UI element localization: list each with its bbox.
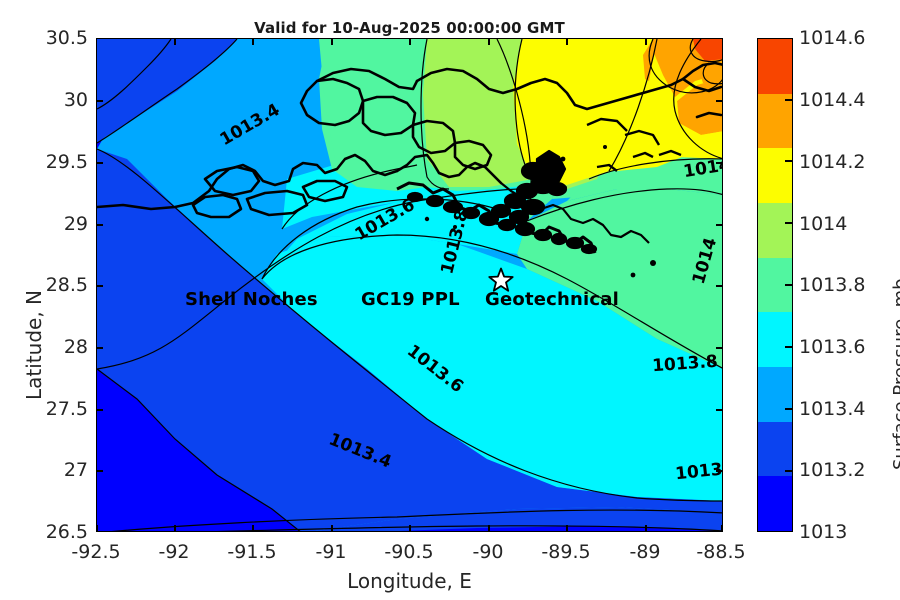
colorbar-tick-label: 1014.2: [799, 151, 865, 173]
y-tick-right: [716, 409, 723, 411]
y-tick-right: [716, 100, 723, 102]
colorbar-tick-label: 1014.4: [799, 89, 865, 111]
x-tick-label: -91: [286, 541, 376, 563]
colorbar-tick-label: 1014: [799, 213, 847, 235]
y-tick: [96, 162, 103, 164]
x-tick-label: -89.5: [521, 541, 611, 563]
site-label-shell-noches: Shell Noches: [185, 289, 318, 310]
colorbar-band-6: [758, 367, 792, 422]
colorbar-tick: [785, 408, 793, 410]
colorbar-tick: [785, 470, 793, 472]
x-tick-top: [252, 38, 254, 45]
x-axis-title: Longitude, E: [96, 569, 723, 593]
colorbar-band-0: [758, 39, 792, 94]
x-tick-top: [331, 38, 333, 45]
x-tick: [488, 525, 490, 532]
y-tick-right: [716, 347, 723, 349]
colorbar-tick: [785, 99, 793, 101]
contour-map-axes[interactable]: 1013.4 1013.6 1013.8 1014.2 1014 1013.6 …: [96, 38, 723, 532]
colorbar-band-5: [758, 312, 792, 367]
x-tick: [645, 525, 647, 532]
x-tick: [96, 525, 98, 532]
colorbar-tick: [785, 222, 793, 224]
colorbar-band-7: [758, 422, 792, 477]
y-tick: [96, 347, 103, 349]
x-tick-top: [174, 38, 176, 45]
x-tick: [409, 525, 411, 532]
y-tick-label: 30.5: [16, 27, 88, 49]
x-tick-label: -92: [129, 541, 219, 563]
colorbar-tick-label: 1013.4: [799, 398, 865, 420]
x-tick: [566, 525, 568, 532]
y-tick-label: 29.5: [16, 151, 88, 173]
y-tick-label: 30: [16, 89, 88, 111]
colorbar-tick-label: 1013: [799, 521, 847, 543]
colorbar-tick-label: 1013.6: [799, 336, 865, 358]
plot-title: Valid for 10-Aug-2025 00:00:00 GMT: [96, 19, 723, 37]
colorbar-tick: [785, 160, 793, 162]
site-label-gc19-ppl: GC19 PPL: [361, 289, 460, 310]
y-tick-label: 26.5: [16, 521, 88, 543]
x-tick-label: -90: [443, 541, 533, 563]
x-tick: [252, 525, 254, 532]
x-tick: [721, 525, 723, 532]
y-tick: [96, 224, 103, 226]
colorbar-tick: [785, 284, 793, 286]
y-tick: [96, 470, 103, 472]
colorbar-tick-label: 1013.8: [799, 274, 865, 296]
x-tick-top: [645, 38, 647, 45]
colorbar-band-1: [758, 94, 792, 149]
y-tick: [96, 285, 103, 287]
y-tick-label: 29: [16, 213, 88, 235]
y-tick-right: [716, 224, 723, 226]
x-tick-top: [409, 38, 411, 45]
colorbar-tick: [785, 346, 793, 348]
y-tick-label: 27.5: [16, 398, 88, 420]
x-tick-label: -88.5: [676, 541, 766, 563]
y-axis-title: Latitude, N: [22, 290, 46, 400]
x-tick-top: [488, 38, 490, 45]
x-tick-label: -92.5: [51, 541, 141, 563]
y-tick-right: [716, 162, 723, 164]
figure: Valid for 10-Aug-2025 00:00:00 GMT: [0, 0, 900, 600]
colorbar-band-2: [758, 148, 792, 203]
site-label-geotechnical: Geotechnical: [485, 289, 619, 310]
y-tick-right: [716, 470, 723, 472]
contour-field: [97, 39, 723, 532]
colorbar-title: Surface Pressure, mb: [890, 278, 900, 470]
x-tick-label: -91.5: [207, 541, 297, 563]
y-tick-label: 27: [16, 459, 88, 481]
x-tick-label: -90.5: [364, 541, 454, 563]
colorbar-band-8: [758, 476, 792, 531]
x-tick: [331, 525, 333, 532]
y-tick-right: [716, 285, 723, 287]
colorbar-tick-label: 1013.2: [799, 459, 865, 481]
colorbar-tick-label: 1014.6: [799, 27, 865, 49]
x-tick-top: [566, 38, 568, 45]
y-tick: [96, 409, 103, 411]
x-tick: [174, 525, 176, 532]
y-tick: [96, 100, 103, 102]
colorbar-band-3: [758, 203, 792, 258]
